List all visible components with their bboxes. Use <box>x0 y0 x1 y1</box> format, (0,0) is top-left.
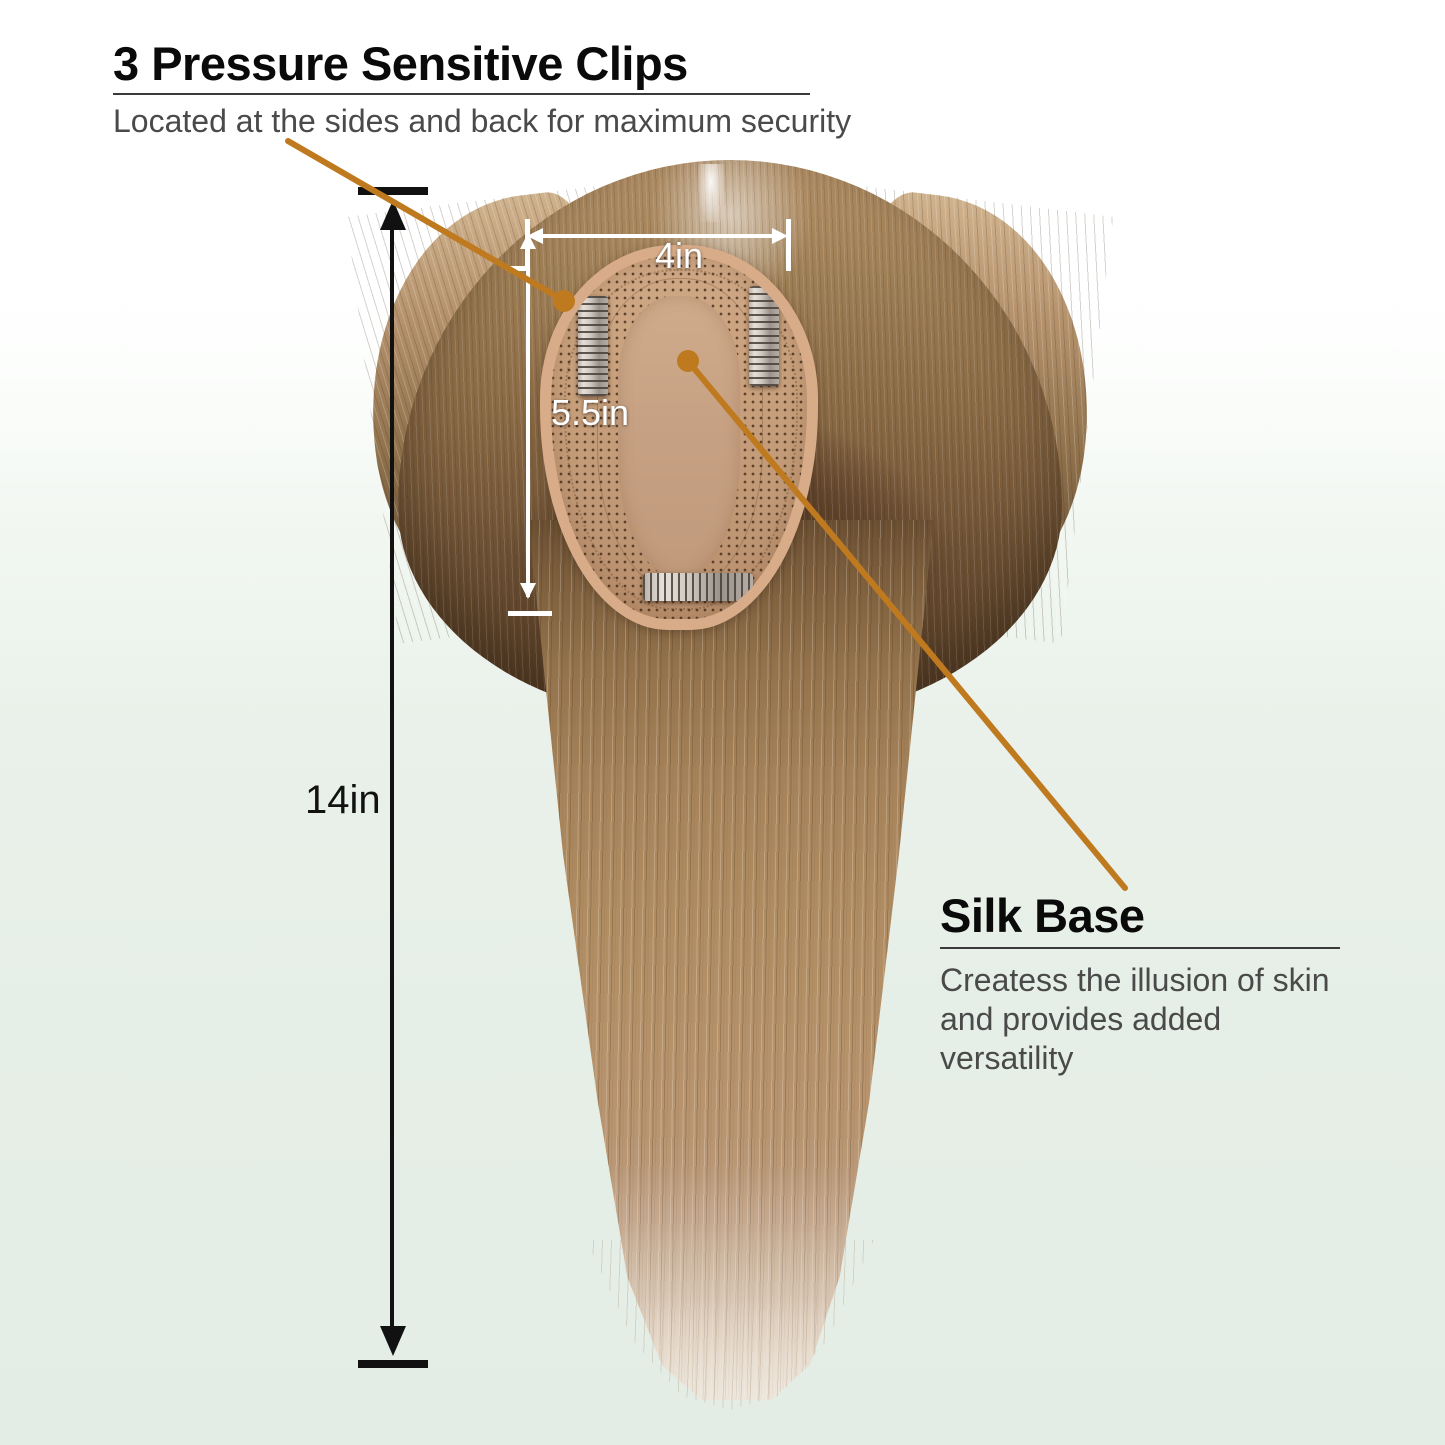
callout-clips: 3 Pressure Sensitive Clips Located at th… <box>113 40 851 141</box>
infographic-canvas: 3 Pressure Sensitive Clips Located at th… <box>0 0 1445 1445</box>
height-arrow-shaft <box>526 247 530 597</box>
clip-teeth <box>749 286 779 386</box>
pressure-clip-back <box>643 573 753 601</box>
width-tick-right <box>786 219 791 271</box>
clip-teeth <box>578 296 608 396</box>
silk-skin-panel <box>618 296 741 579</box>
clip-teeth <box>643 573 753 601</box>
callout-clips-title: 3 Pressure Sensitive Clips <box>113 40 851 87</box>
product-photo <box>380 160 1080 1400</box>
hair-part-line <box>698 164 724 222</box>
callout-clips-subtitle: Located at the sides and back for maximu… <box>113 102 851 141</box>
length-arrow-shaft <box>390 226 394 1326</box>
height-tick-bottom <box>508 611 552 616</box>
width-arrowhead-right <box>772 228 788 244</box>
length-tick-bottom <box>358 1360 428 1368</box>
height-arrowhead-bottom <box>520 583 536 599</box>
pressure-clip-right <box>749 286 779 386</box>
height-arrowhead-top <box>520 233 536 249</box>
width-label: 4in <box>655 235 703 277</box>
hair-wispy-ends <box>530 1240 930 1410</box>
silk-base-panel <box>540 245 818 630</box>
length-label: 14in <box>305 778 381 823</box>
length-arrowhead-bottom <box>380 1326 406 1356</box>
callout-clips-divider <box>113 93 810 95</box>
length-tick-top <box>358 187 428 195</box>
height-label: 5.5in <box>551 392 629 434</box>
pressure-clip-left <box>578 296 608 396</box>
